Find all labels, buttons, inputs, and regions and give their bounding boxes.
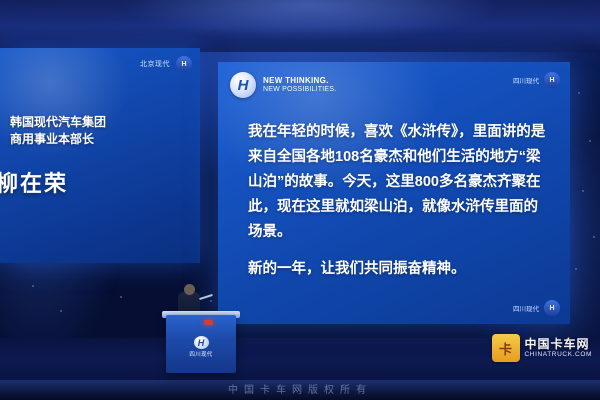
main-screen-footer-brand: 四川现代 H (513, 300, 560, 316)
watermark-text: 中国卡车网 CHINATRUCK.COM (525, 337, 593, 359)
speaker-name: 柳在荣 (0, 166, 166, 198)
left-projection-screen: 北京现代 H 韩国现代汽车集团 商用事业本部长 柳在荣 NEW THINKING… (0, 48, 200, 263)
main-screen-logo-text: NEW THINKING. NEW POSSIBILITIES. (263, 76, 336, 93)
main-screen-tagline-line1: NEW THINKING. (263, 76, 336, 85)
watermark-name-cn: 中国卡车网 (525, 337, 593, 351)
main-projection-screen: H NEW THINKING. NEW POSSIBILITIES. 四川现代 … (218, 62, 570, 324)
main-screen-footer-brand-label: 四川现代 (513, 303, 539, 313)
main-screen-logo: H NEW THINKING. NEW POSSIBILITIES. (230, 72, 336, 98)
hyundai-h-icon: H (230, 72, 256, 98)
left-screen-title-line2: 商用事业本部长 (10, 131, 170, 148)
speech-paragraph-2: 新的一年，让我们共同振奋精神。 (248, 257, 548, 282)
truck-site-badge-icon: 卡 (492, 334, 520, 362)
speech-paragraph-1: 我在年轻的时候，喜欢《水浒传》，里面讲的是来自全国各地108名豪杰和他们生活的地… (248, 120, 548, 245)
speaker-head (184, 284, 195, 295)
main-screen-speech-text: 我在年轻的时候，喜欢《水浒传》，里面讲的是来自全国各地108名豪杰和他们生活的地… (248, 120, 548, 294)
hyundai-h-icon: H (544, 72, 560, 88)
podium-brand-logo: H 四川现代 (180, 336, 222, 358)
left-screen-title-line1: 韩国现代汽车集团 (10, 114, 170, 131)
hyundai-h-icon: H (194, 336, 209, 349)
main-screen-header-brand-label: 四川现代 (513, 75, 539, 85)
main-screen-tagline-line2: NEW POSSIBILITIES. (263, 86, 336, 94)
left-screen-title: 韩国现代汽车集团 商用事业本部长 (10, 114, 170, 148)
main-screen-header-brand: 四川现代 H (513, 72, 560, 88)
hyundai-h-icon: H (176, 56, 192, 72)
watermark-footer: 中国卡车网版权所有 (0, 381, 600, 396)
podium-indicator-light (204, 320, 213, 325)
watermark: 卡 中国卡车网 CHINATRUCK.COM (492, 334, 593, 362)
hyundai-h-icon: H (544, 300, 560, 316)
left-screen-brand-logo: 北京现代 H (140, 56, 192, 72)
watermark-name-en: CHINATRUCK.COM (525, 351, 593, 359)
podium-brand-label: 四川现代 (189, 350, 212, 358)
photo-stage: 北京现代 H 韩国现代汽车集团 商用事业本部长 柳在荣 NEW THINKING… (0, 0, 600, 400)
left-screen-brand-label: 北京现代 (140, 59, 170, 69)
